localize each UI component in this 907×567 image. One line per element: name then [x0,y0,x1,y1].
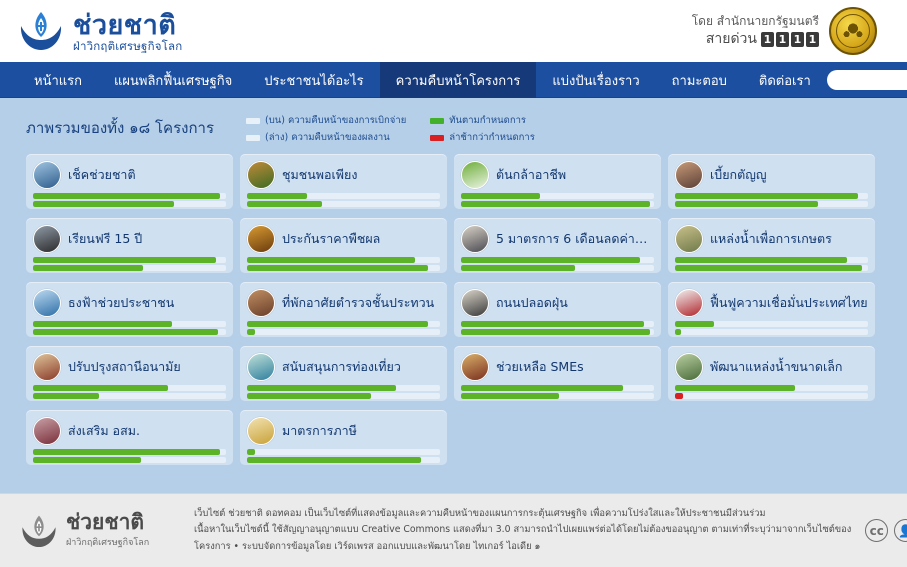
lotus-logo-icon [18,10,64,52]
performance-progress-bar [247,201,440,207]
site-footer: ช่วยชาติ ฝ่าวิกฤติเศรษฐกิจโลก เว็บไซต์ ช… [0,493,907,567]
progress-fill [247,193,307,199]
project-card-header: 5 มาตรการ 6 เดือนลดค่าครองชีพ [461,224,654,254]
project-card-header: ต้นกล้าอาชีพ [461,160,654,190]
disbursement-progress-bar [675,193,868,199]
legend-item: ทันตามกำหนดการ [430,113,535,128]
project-card-header: แหล่งน้ำเพื่อการเกษตร [675,224,868,254]
road-photo-thumbnail [461,289,489,317]
progress-fill [675,393,683,399]
progress-fill [247,449,255,455]
footer-line: เนื้อหาในเว็บไซต์นี้ ใช้สัญญาอนุญาตแบบ C… [194,522,851,538]
project-card-grid: เช็คช่วยชาติชุมชนพอเพียงต้นกล้าอาชีพเบี้… [18,154,889,465]
hotline-label: สายด่วน [706,30,757,49]
project-card-header: ฟื้นฟูความเชื่อมั่นประเทศไทย [675,288,868,318]
project-card[interactable]: ช่วยเหลือ SMEs [454,346,661,401]
project-card[interactable]: ต้นกล้าอาชีพ [454,154,661,209]
nav-item-3[interactable]: ความคืบหน้าโครงการ [380,62,537,98]
project-card-header: สนับสนุนการท่องเที่ยว [247,352,440,382]
performance-progress-bar [247,393,440,399]
project-card-title: ที่พักอาศัยตำรวจชั้นประทวน [282,293,434,313]
hotline-digit: 1 [761,32,774,47]
volunteer-photo-thumbnail [33,417,61,445]
project-card-header: ที่พักอาศัยตำรวจชั้นประทวน [247,288,440,318]
progress-fill [247,257,415,263]
legend-label: (ล่าง) ความคืบหน้าของผลงาน [265,130,390,145]
nav-item-2[interactable]: ประชาชนได้อะไร [248,62,379,98]
project-card-title: ส่งเสริม อสม. [68,421,140,441]
disbursement-progress-bar [33,193,226,199]
government-block: โดย สำนักนายกรัฐมนตรี สายด่วน 1111 [692,7,877,55]
disbursement-progress-bar [247,193,440,199]
performance-progress-bar [33,265,226,271]
project-card-title: ถนนปลอดฝุ่น [496,293,568,313]
tax-photo-thumbnail [247,417,275,445]
legend-item: (บน) ความคืบหน้าของการเบิกจ่าย [246,113,406,128]
project-card-header: พัฒนาแหล่งน้ำขนาดเล็ก [675,352,868,382]
progress-fill [675,257,847,263]
progress-fill [675,385,795,391]
progress-bars [33,385,226,399]
progress-fill [461,193,540,199]
government-lines: โดย สำนักนายกรัฐมนตรี สายด่วน 1111 [692,13,819,48]
disbursement-progress-bar [461,193,654,199]
progress-fill [675,201,818,207]
project-card[interactable]: มาตรการภาษี [240,410,447,465]
progress-fill [675,329,681,335]
smallwater-photo-thumbnail [675,353,703,381]
performance-progress-bar [461,201,654,207]
progress-fill [247,265,428,271]
hotline-block: สายด่วน 1111 [692,30,819,49]
progress-bars [247,449,440,463]
project-card-title: ช่วยเหลือ SMEs [496,357,584,377]
project-card-title: ชุมชนพอเพียง [282,165,357,185]
performance-progress-bar [461,265,654,271]
project-card-title: สนับสนุนการท่องเที่ยว [282,357,401,377]
progress-fill [33,265,143,271]
performance-progress-bar [675,393,868,399]
project-card-header: ชุมชนพอเพียง [247,160,440,190]
project-card[interactable]: ฟื้นฟูความเชื่อมั่นประเทศไทย [668,282,875,337]
progress-bars [247,193,440,207]
project-card-header: ปรับปรุงสถานีอนามัย [33,352,226,382]
disbursement-progress-bar [33,449,226,455]
community-photo-thumbnail [247,161,275,189]
legend-label: ทันตามกำหนดการ [449,113,526,128]
brand-subtitle: ฝ่าวิกฤติเศรษฐกิจโลก [73,41,182,53]
site-brand[interactable]: ช่วยชาติ ฝ่าวิกฤติเศรษฐกิจโลก [18,10,182,53]
progress-fill [33,193,220,199]
garuda-seal-icon [829,7,877,55]
disbursement-progress-bar [247,321,440,327]
progress-fill [247,329,255,335]
legend: (บน) ความคืบหน้าของการเบิกจ่าย (ล่าง) คว… [246,113,535,145]
legend-label: (บน) ความคืบหน้าของการเบิกจ่าย [265,113,406,128]
project-card-header: เบี้ยกตัญญู [675,160,868,190]
project-card[interactable]: เรียนฟรี 15 ปี [26,218,233,273]
progress-bars [675,257,868,271]
footer-brand-text: ช่วยชาติ ฝ่าวิกฤติเศรษฐกิจโลก [66,512,149,549]
progress-fill [33,449,220,455]
progress-fill [33,385,168,391]
police-photo-thumbnail [247,289,275,317]
legend-item: (ล่าง) ความคืบหน้าของผลงาน [246,130,406,145]
bluefl-photo-thumbnail [33,289,61,317]
progress-fill [33,257,216,263]
project-card[interactable]: ประกันราคาพืชผล [240,218,447,273]
project-card-header: ช่วยเหลือ SMEs [461,352,654,382]
project-card-title: พัฒนาแหล่งน้ำขนาดเล็ก [710,357,842,377]
performance-progress-bar [247,457,440,463]
footer-brand-subtitle: ฝ่าวิกฤติเศรษฐกิจโลก [66,535,149,549]
cheque-photo-thumbnail [33,161,61,189]
performance-progress-bar [247,329,440,335]
footer-brand[interactable]: ช่วยชาติ ฝ่าวิกฤติเศรษฐกิจโลก [20,512,180,549]
nav-item-6[interactable]: ติดต่อเรา [743,62,827,98]
legend-label: ล่าช้ากว่ากำหนดการ [449,130,535,145]
legend-item: ล่าช้ากว่ากำหนดการ [430,130,535,145]
project-card-title: เบี้ยกตัญญู [710,165,767,185]
performance-progress-bar [247,265,440,271]
disbursement-progress-bar [675,385,868,391]
progress-bars [675,385,868,399]
page-root: ช่วยชาติ ฝ่าวิกฤติเศรษฐกิจโลก โดย สำนักน… [0,0,907,567]
disbursement-progress-bar [461,321,654,327]
clinic-photo-thumbnail [33,353,61,381]
footer-lotus-logo-icon [20,514,58,548]
nav-search-area [827,62,907,98]
thaiflag-photo-thumbnail [675,289,703,317]
project-card[interactable]: ธงฟ้าช่วยประชาชน [26,282,233,337]
project-card-title: เช็คช่วยชาติ [68,165,136,185]
progress-fill [675,193,858,199]
progress-fill [247,385,396,391]
performance-progress-bar [33,393,226,399]
project-card[interactable]: พัฒนาแหล่งน้ำขนาดเล็ก [668,346,875,401]
progress-fill [247,457,421,463]
project-card-header: ประกันราคาพืชผล [247,224,440,254]
project-card[interactable]: เบี้ยกตัญญู [668,154,875,209]
progress-fill [675,265,862,271]
performance-progress-bar [33,329,226,335]
tourism-photo-thumbnail [247,353,275,381]
project-card-title: ปรับปรุงสถานีอนามัย [68,357,181,377]
progress-fill [33,457,141,463]
performance-progress-bar [675,201,868,207]
project-card-title: ธงฟ้าช่วยประชาชน [68,293,174,313]
search-input[interactable] [834,74,907,87]
footer-text: เว็บไซต์ ช่วยชาติ ดอทคอม เป็นเว็บไซต์ที่… [194,506,851,555]
progress-fill [461,321,644,327]
sprout-photo-thumbnail [461,161,489,189]
progress-fill [461,385,623,391]
hotline-digit: 1 [776,32,789,47]
legend-swatch-white [246,135,260,141]
nav-item-5[interactable]: ถามะตอบ [656,62,743,98]
creative-commons-badges[interactable]: cc 👤 [865,519,907,542]
progress-bars [247,257,440,271]
progress-fill [247,393,371,399]
progress-bars [675,193,868,207]
bus-photo-thumbnail [461,225,489,253]
progress-bars [247,321,440,335]
project-card-header: ธงฟ้าช่วยประชาชน [33,288,226,318]
brand-title: ช่วยชาติ [73,12,182,39]
progress-bars [461,257,654,271]
progress-bars [461,193,654,207]
panel-header: ภาพรวมของทั้ง ๑๘ โครงการ (บน) ความคืบหน้… [18,110,889,154]
students-photo-thumbnail [33,225,61,253]
nav-item-1[interactable]: แผนพลิกฟื้นเศรษฐกิจ [98,62,248,98]
disbursement-progress-bar [461,385,654,391]
performance-progress-bar [675,329,868,335]
progress-bars [33,257,226,271]
disbursement-progress-bar [33,321,226,327]
project-card-title: เรียนฟรี 15 ปี [68,229,142,249]
progress-bars [33,321,226,335]
progress-fill [33,201,174,207]
project-card-title: ฟื้นฟูความเชื่อมั่นประเทศไทย [710,293,868,313]
site-header: ช่วยชาติ ฝ่าวิกฤติเศรษฐกิจโลก โดย สำนักน… [0,0,907,62]
legend-column-left: (บน) ความคืบหน้าของการเบิกจ่าย (ล่าง) คว… [246,113,406,145]
project-card-header: เช็คช่วยชาติ [33,160,226,190]
performance-progress-bar [33,201,226,207]
disbursement-progress-bar [33,257,226,263]
project-card-title: ประกันราคาพืชผล [282,229,380,249]
page-title: ภาพรวมของทั้ง ๑๘ โครงการ [26,113,214,140]
disbursement-progress-bar [675,321,868,327]
nav-item-0[interactable]: หน้าแรก [18,62,98,98]
legend-swatch-red [430,135,444,141]
project-card[interactable]: แหล่งน้ำเพื่อการเกษตร [668,218,875,273]
water-photo-thumbnail [675,225,703,253]
progress-fill [33,329,218,335]
project-card[interactable]: 5 มาตรการ 6 เดือนลดค่าครองชีพ [454,218,661,273]
project-card[interactable]: ชุมชนพอเพียง [240,154,447,209]
hotline-digit: 1 [806,32,819,47]
hotline-number: 1111 [761,32,819,47]
performance-progress-bar [461,393,654,399]
progress-bars [675,321,868,335]
brand-text-block: ช่วยชาติ ฝ่าวิกฤติเศรษฐกิจโลก [73,10,182,53]
government-office: โดย สำนักนายกรัฐมนตรี [692,13,819,29]
elder-photo-thumbnail [675,161,703,189]
progress-bars [33,449,226,463]
footer-brand-title: ช่วยชาติ [66,512,149,533]
project-card-header: ส่งเสริม อสม. [33,416,226,446]
project-card[interactable]: สนับสนุนการท่องเที่ยว [240,346,447,401]
project-card-title: แหล่งน้ำเพื่อการเกษตร [710,229,832,249]
cc-by-icon[interactable]: 👤 [894,519,907,542]
projects-panel: ภาพรวมของทั้ง ๑๘ โครงการ (บน) ความคืบหน้… [0,98,907,493]
footer-line: โครงการ • ระบบจัดการข้อมูลโดย เวิร์ดเพรส… [194,539,851,555]
project-card-title: 5 มาตรการ 6 เดือนลดค่าครองชีพ [496,229,654,249]
performance-progress-bar [675,265,868,271]
progress-fill [33,321,172,327]
progress-bars [33,193,226,207]
search-box[interactable] [827,70,907,90]
performance-progress-bar [461,329,654,335]
progress-fill [33,393,99,399]
disbursement-progress-bar [675,257,868,263]
nav-items: หน้าแรกแผนพลิกฟื้นเศรษฐกิจประชาชนได้อะไร… [18,62,827,98]
footer-line: เว็บไซต์ ช่วยชาติ ดอทคอม เป็นเว็บไซต์ที่… [194,506,851,522]
main-navigation: หน้าแรกแผนพลิกฟื้นเศรษฐกิจประชาชนได้อะไร… [0,62,907,98]
project-card[interactable]: ที่พักอาศัยตำรวจชั้นประทวน [240,282,447,337]
disbursement-progress-bar [247,449,440,455]
sme-photo-thumbnail [461,353,489,381]
project-card[interactable]: ปรับปรุงสถานีอนามัย [26,346,233,401]
disbursement-progress-bar [247,385,440,391]
nav-item-4[interactable]: แบ่งปันเรื่องราว [536,62,655,98]
project-card-header: ถนนปลอดฝุ่น [461,288,654,318]
progress-bars [461,321,654,335]
progress-fill [461,265,575,271]
progress-fill [247,201,322,207]
progress-fill [247,321,428,327]
project-card-header: มาตรการภาษี [247,416,440,446]
progress-fill [675,321,714,327]
legend-swatch-white [246,118,260,124]
progress-fill [461,393,559,399]
legend-column-right: ทันตามกำหนดการ ล่าช้ากว่ากำหนดการ [430,113,535,145]
project-card-title: ต้นกล้าอาชีพ [496,165,566,185]
performance-progress-bar [33,457,226,463]
cc-icon[interactable]: cc [865,519,888,542]
project-card[interactable]: เช็คช่วยชาติ [26,154,233,209]
disbursement-progress-bar [461,257,654,263]
progress-bars [247,385,440,399]
harvest-photo-thumbnail [247,225,275,253]
progress-bars [461,385,654,399]
hotline-digit: 1 [791,32,804,47]
legend-swatch-green [430,118,444,124]
disbursement-progress-bar [247,257,440,263]
project-card-title: มาตรการภาษี [282,421,357,441]
progress-fill [461,329,650,335]
progress-fill [461,257,640,263]
project-card[interactable]: ส่งเสริม อสม. [26,410,233,465]
disbursement-progress-bar [33,385,226,391]
project-card-header: เรียนฟรี 15 ปี [33,224,226,254]
project-card[interactable]: ถนนปลอดฝุ่น [454,282,661,337]
progress-fill [461,201,650,207]
